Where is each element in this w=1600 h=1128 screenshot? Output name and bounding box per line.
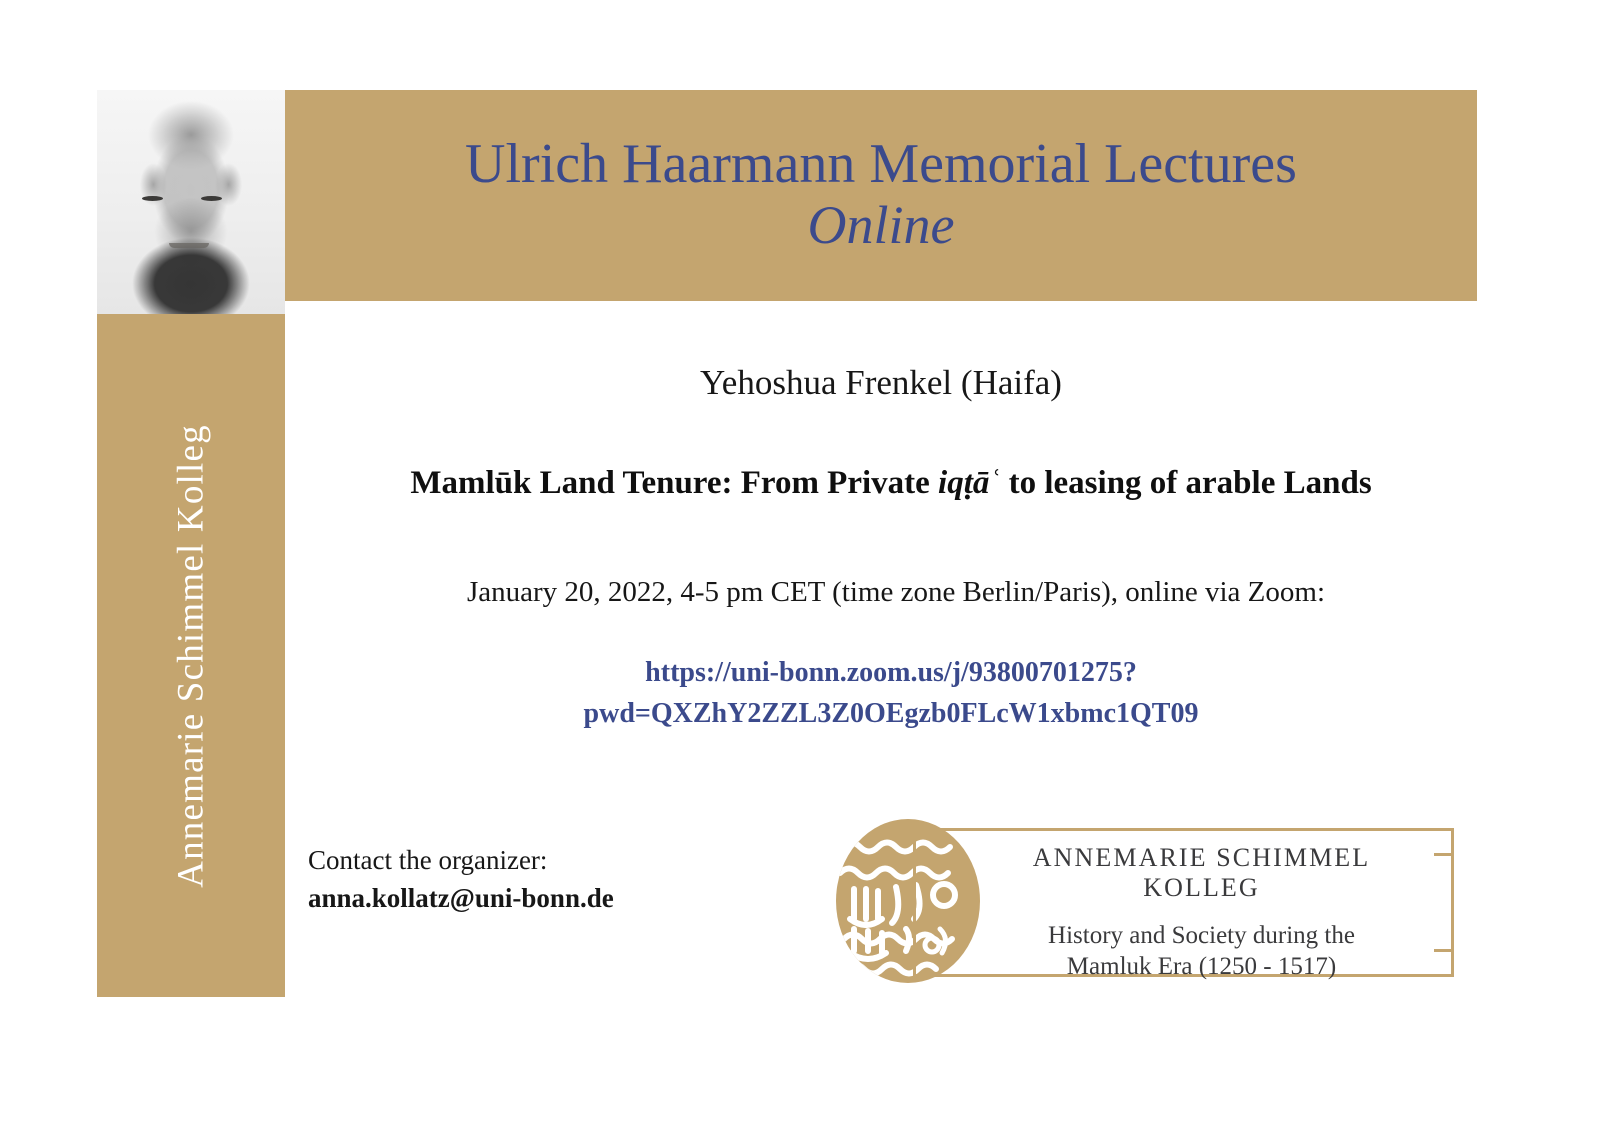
speaker-portrait-photo bbox=[97, 90, 285, 315]
header-band: Ulrich Haarmann Memorial Lectures Online bbox=[285, 90, 1477, 301]
page-subtitle: Online bbox=[808, 196, 955, 255]
logo-tagline-line2: Mamluk Era (1250 - 1517) bbox=[975, 952, 1428, 983]
kolleg-logo: ANNEMARIE SCHIMMEL KOLLEG History and So… bbox=[820, 811, 1454, 991]
contact-label: Contact the organizer: bbox=[308, 841, 614, 879]
gold-sidebar: Annemarie Schimmel Kolleg bbox=[97, 314, 285, 997]
contact-email[interactable]: anna.kollatz@uni-bonn.de bbox=[308, 879, 614, 917]
zoom-url-line2[interactable]: pwd=QXZhY2ZZL3Z0OEgzb0FLcW1xbmc1QT09 bbox=[584, 698, 1199, 729]
lecture-title: Mamlūk Land Tenure: From Private iqṭāʿ t… bbox=[393, 461, 1389, 506]
lecture-title-part2: to leasing of arable Lands bbox=[1000, 465, 1371, 501]
portrait-eyes bbox=[97, 196, 285, 202]
lecture-title-italic-term: iqṭāʿ bbox=[938, 465, 1000, 501]
contact-block: Contact the organizer: anna.kollatz@uni-… bbox=[308, 841, 614, 918]
logo-tagline-line1: History and Society during the bbox=[975, 921, 1428, 952]
zoom-meeting-link[interactable]: https://uni-bonn.zoom.us/j/93800701275? … bbox=[405, 653, 1377, 734]
main-content: Yehoshua Frenkel (Haifa) Mamlūk Land Ten… bbox=[285, 301, 1477, 997]
portrait-mouth bbox=[169, 243, 209, 248]
logo-tagline: History and Society during the Mamluk Er… bbox=[975, 921, 1428, 982]
lecture-datetime: January 20, 2022, 4-5 pm CET (time zone … bbox=[345, 576, 1447, 609]
zoom-url-line1[interactable]: https://uni-bonn.zoom.us/j/93800701275? bbox=[645, 657, 1137, 688]
poster-root: Annemarie Schimmel Kolleg Ulrich Haarman… bbox=[0, 0, 1600, 1128]
speaker-name: Yehoshua Frenkel (Haifa) bbox=[285, 363, 1477, 403]
logo-text-block: ANNEMARIE SCHIMMEL KOLLEG History and So… bbox=[975, 843, 1428, 982]
lecture-title-part1: Mamlūk Land Tenure: From Private bbox=[410, 465, 938, 501]
logo-institution-name: ANNEMARIE SCHIMMEL KOLLEG bbox=[975, 843, 1428, 903]
portrait-image bbox=[97, 90, 285, 315]
sidebar-vertical-label: Annemarie Schimmel Kolleg bbox=[170, 424, 213, 888]
page-title: Ulrich Haarmann Memorial Lectures bbox=[465, 135, 1297, 194]
